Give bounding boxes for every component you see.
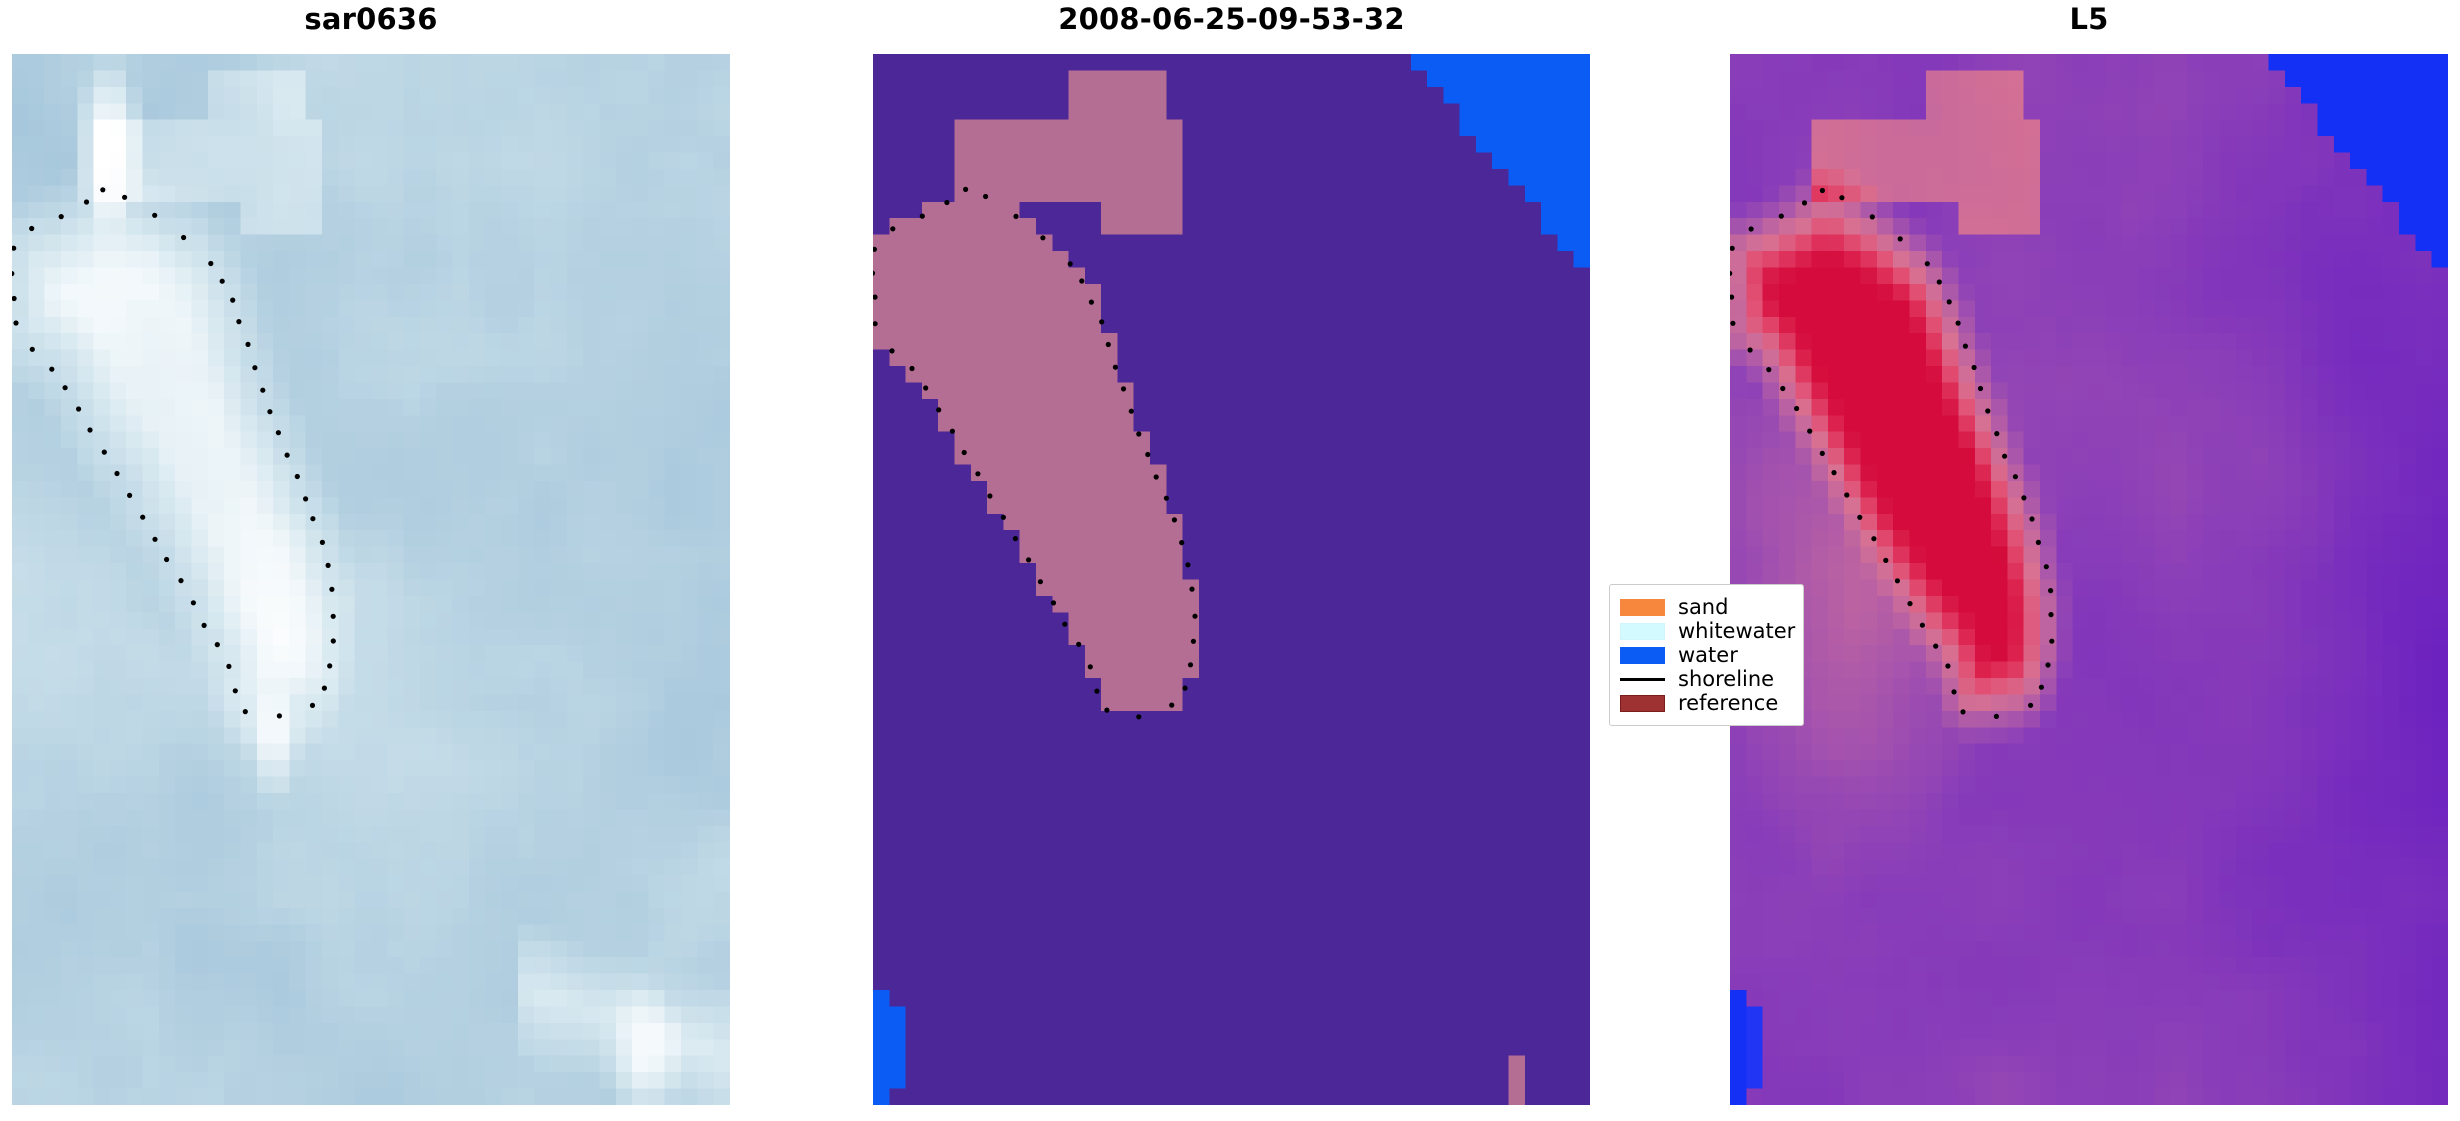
sar-image-axes[interactable] [12,54,730,1105]
sar-image-canvas[interactable] [12,54,730,1105]
legend-label-water: water [1678,644,1738,666]
legend-item-whitewater[interactable]: whitewater [1620,620,1795,642]
l5-image-axes[interactable] [1730,54,2448,1105]
classification-image-canvas[interactable] [873,54,1590,1105]
legend-label-sand: sand [1678,596,1728,618]
legend-label-reference: reference [1678,692,1778,714]
figure-canvas: sar0636 2008-06-25-09-53-32 L5 sand whit… [0,0,2460,1121]
legend-label-shoreline: shoreline [1678,668,1774,690]
legend-swatch-water-icon [1620,647,1665,664]
panel-title-l5: L5 [1730,2,2448,36]
legend-swatch-shoreline-icon [1620,671,1665,688]
legend-swatch-whitewater-icon [1620,623,1665,640]
classification-image-axes[interactable] [873,54,1590,1105]
panel-title-classification: 2008-06-25-09-53-32 [873,2,1590,36]
legend-item-reference[interactable]: reference [1620,692,1795,714]
legend-item-water[interactable]: water [1620,644,1795,666]
legend-item-shoreline[interactable]: shoreline [1620,668,1795,690]
legend-item-sand[interactable]: sand [1620,596,1795,618]
legend: sand whitewater water shoreline referenc… [1609,584,1804,726]
legend-swatch-sand-icon [1620,599,1665,616]
panel-title-sar: sar0636 [12,2,730,36]
legend-label-whitewater: whitewater [1678,620,1795,642]
l5-image-canvas[interactable] [1730,54,2448,1105]
legend-swatch-reference-icon [1620,695,1665,712]
